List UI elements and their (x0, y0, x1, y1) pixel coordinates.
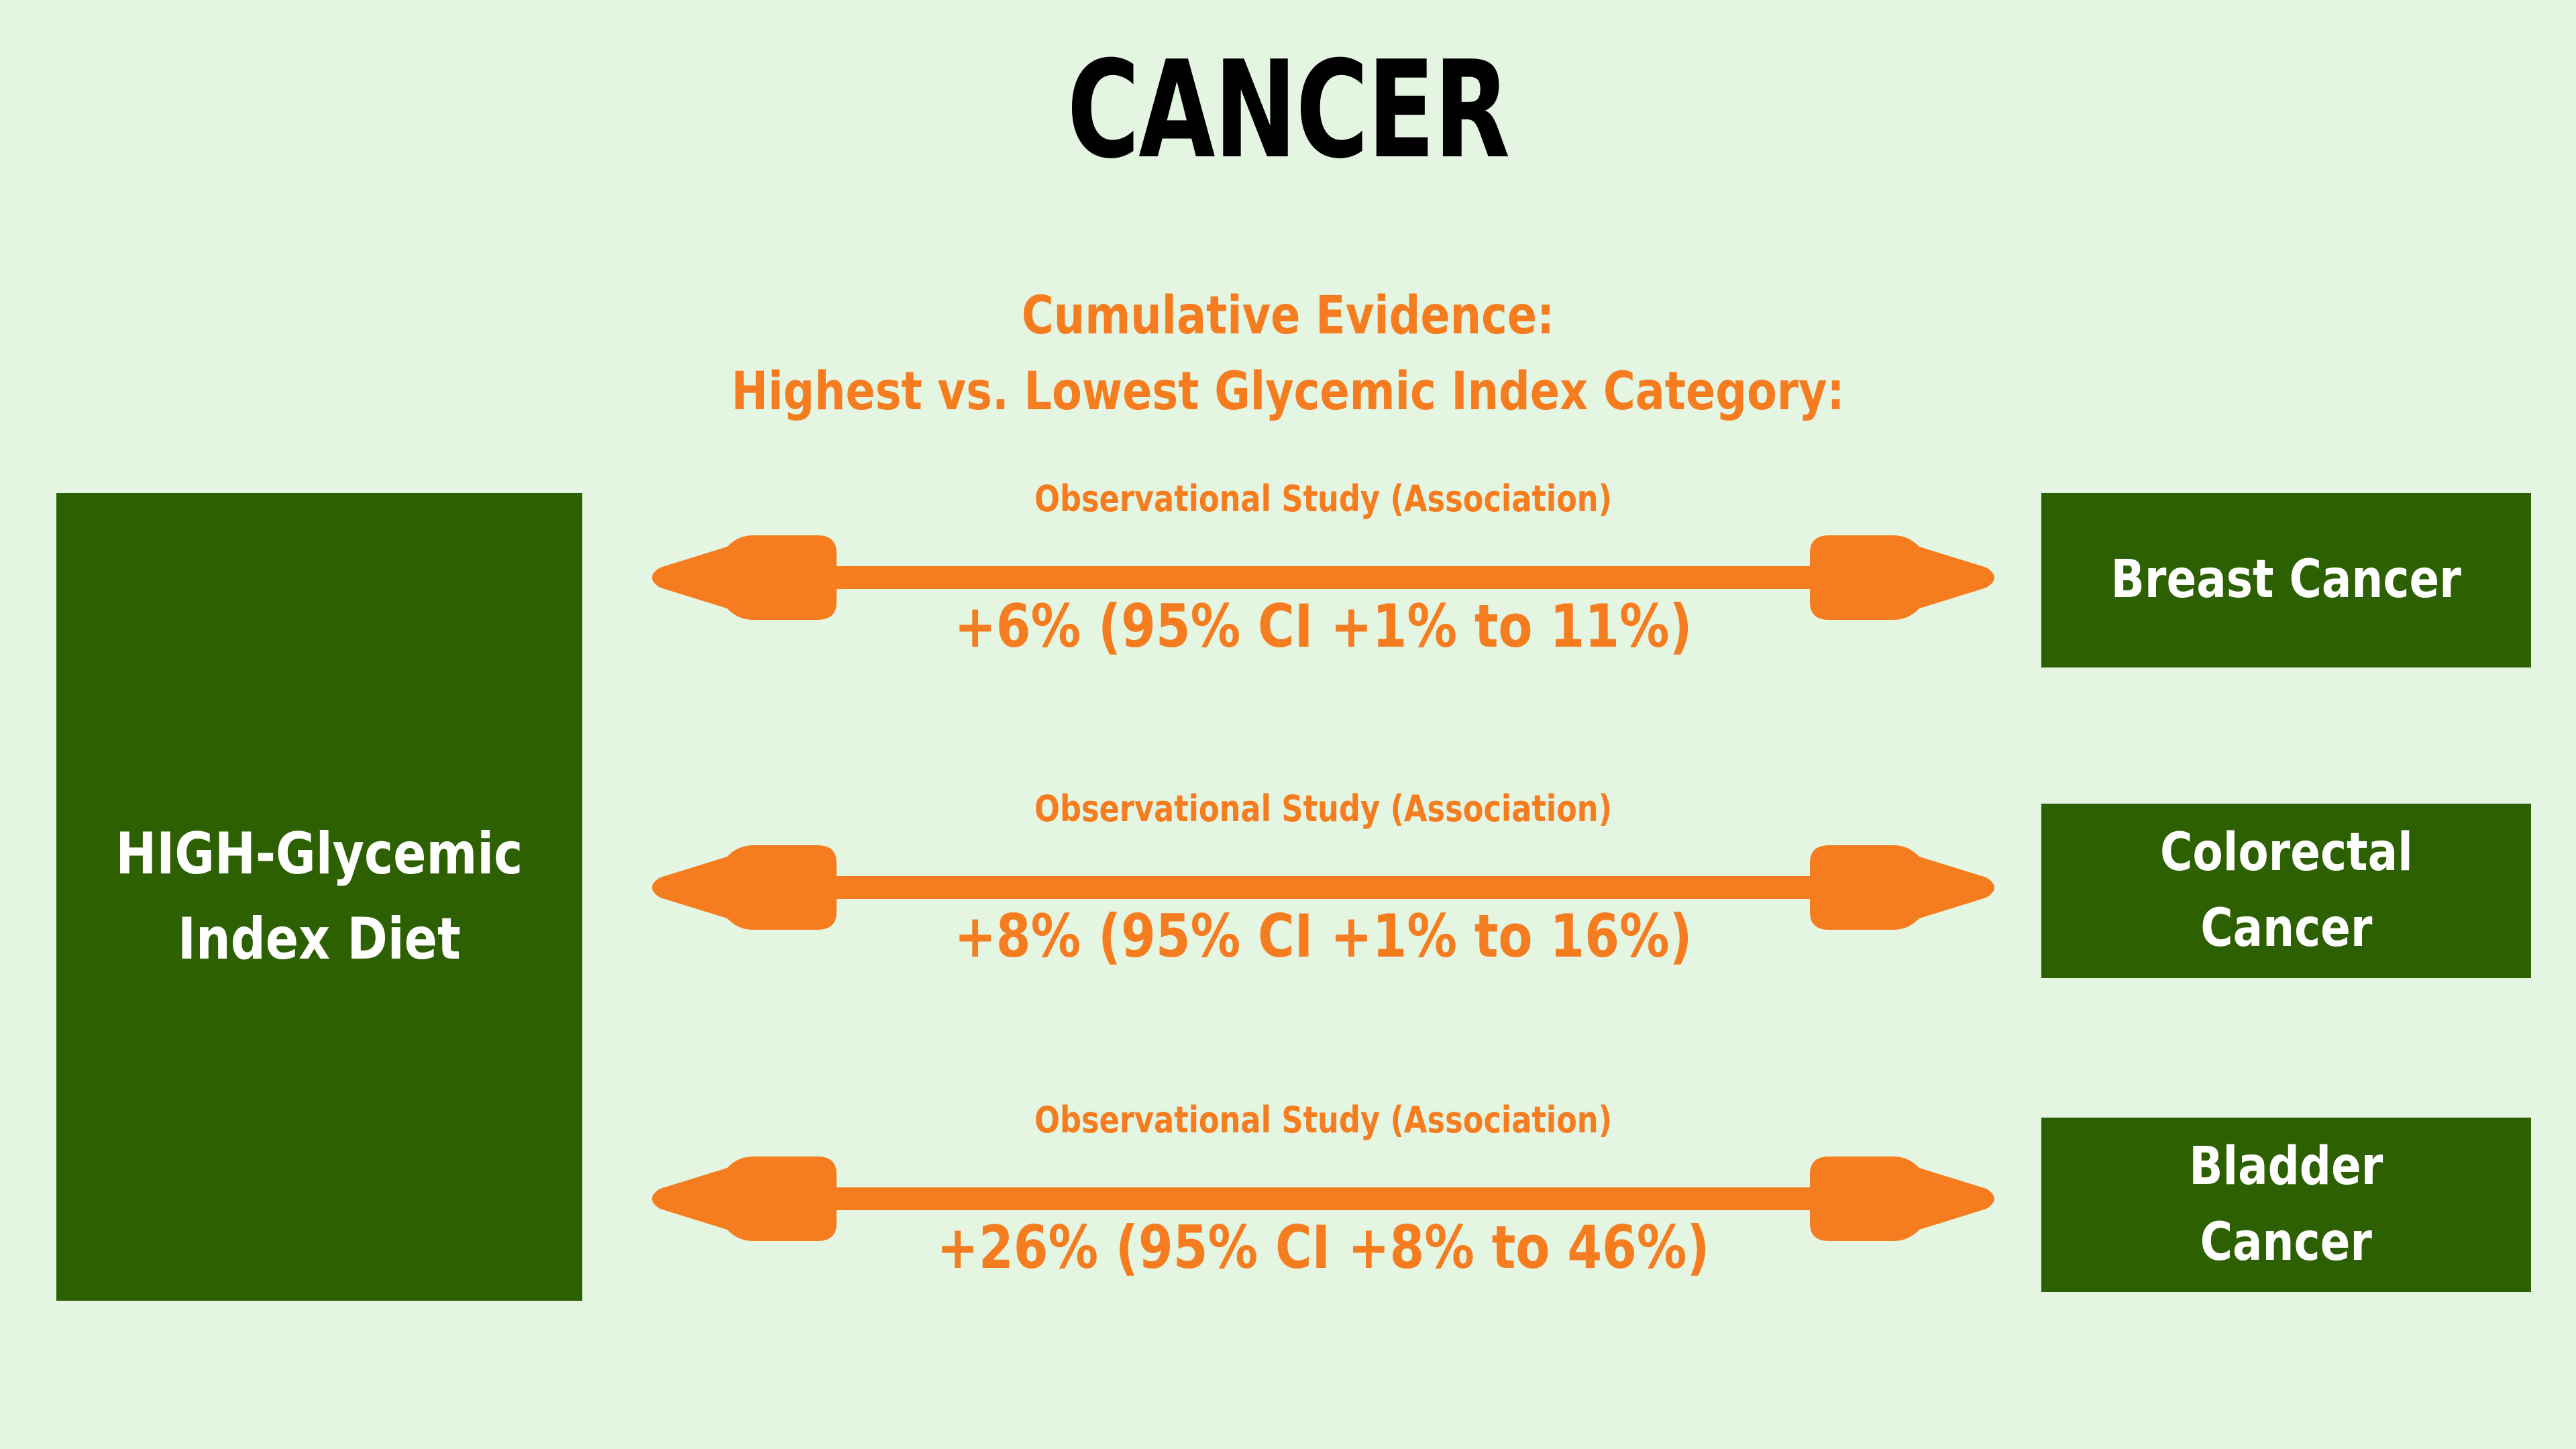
effect-size-label: +8% (95% CI +1% to 16%) (682, 904, 1965, 969)
outcome-label-line-1: Breast Cancer (2111, 549, 2461, 610)
relationship-row-breast-cancer: Observational Study (Association) +6% (9… (0, 483, 2576, 684)
arrow-group-colorectal-cancer: Observational Study (Association) +8% (9… (641, 793, 2006, 994)
study-type-label: Observational Study (Association) (695, 789, 1951, 828)
effect-size-label: +6% (95% CI +1% to 11%) (682, 594, 1965, 659)
outcome-box-breast-cancer: Breast Cancer (2041, 493, 2531, 667)
arrow-group-breast-cancer: Observational Study (Association) +6% (9… (641, 483, 2006, 684)
relationship-row-colorectal-cancer: Observational Study (Association) +8% (9… (0, 793, 2576, 994)
subtitle: Cumulative Evidence: Highest vs. Lowest … (90, 278, 2485, 430)
outcome-label-line-2: Cancer (2200, 1212, 2372, 1273)
subtitle-line-2: Highest vs. Lowest Glycemic Index Catego… (90, 354, 2485, 430)
relationship-row-bladder-cancer: Observational Study (Association) +26% (… (0, 1104, 2576, 1305)
page-title: CANCER (232, 40, 2345, 181)
study-type-label: Observational Study (Association) (695, 479, 1951, 519)
outcome-box-colorectal-cancer: Colorectal Cancer (2041, 804, 2531, 978)
outcome-box-label: Breast Cancer (2111, 542, 2461, 618)
outcome-box-label: Colorectal Cancer (2160, 815, 2413, 967)
outcome-label-line-2: Cancer (2200, 898, 2372, 959)
effect-size-label: +26% (95% CI +8% to 46%) (682, 1216, 1965, 1281)
arrow-group-bladder-cancer: Observational Study (Association) +26% (… (641, 1104, 2006, 1305)
outcome-label-line-1: Bladder (2189, 1136, 2383, 1197)
outcome-label-line-1: Colorectal (2160, 822, 2413, 883)
study-type-label: Observational Study (Association) (695, 1100, 1951, 1140)
subtitle-line-1: Cumulative Evidence: (90, 278, 2485, 354)
outcome-box-label: Bladder Cancer (2189, 1129, 2383, 1281)
outcome-box-bladder-cancer: Bladder Cancer (2041, 1118, 2531, 1292)
